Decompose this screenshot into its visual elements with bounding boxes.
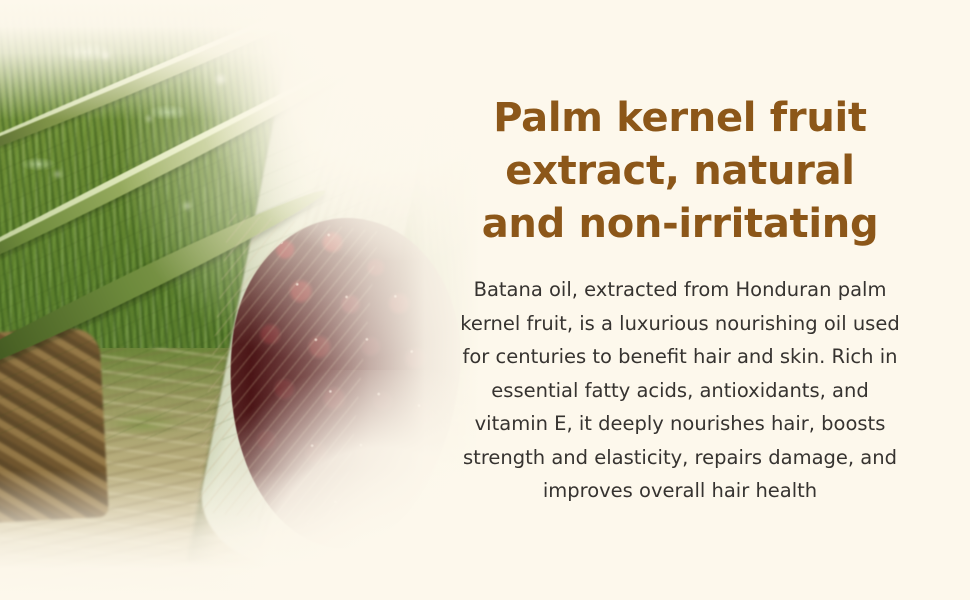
body-description: Batana oil, extracted from Honduran palm… <box>460 273 899 508</box>
headline: Palm kernel fruit extract, natural and n… <box>482 92 879 251</box>
text-column: Palm kernel fruit extract, natural and n… <box>426 0 934 600</box>
product-banner: Palm kernel fruit extract, natural and n… <box>0 0 970 600</box>
palm-plantation-photo <box>0 0 480 600</box>
